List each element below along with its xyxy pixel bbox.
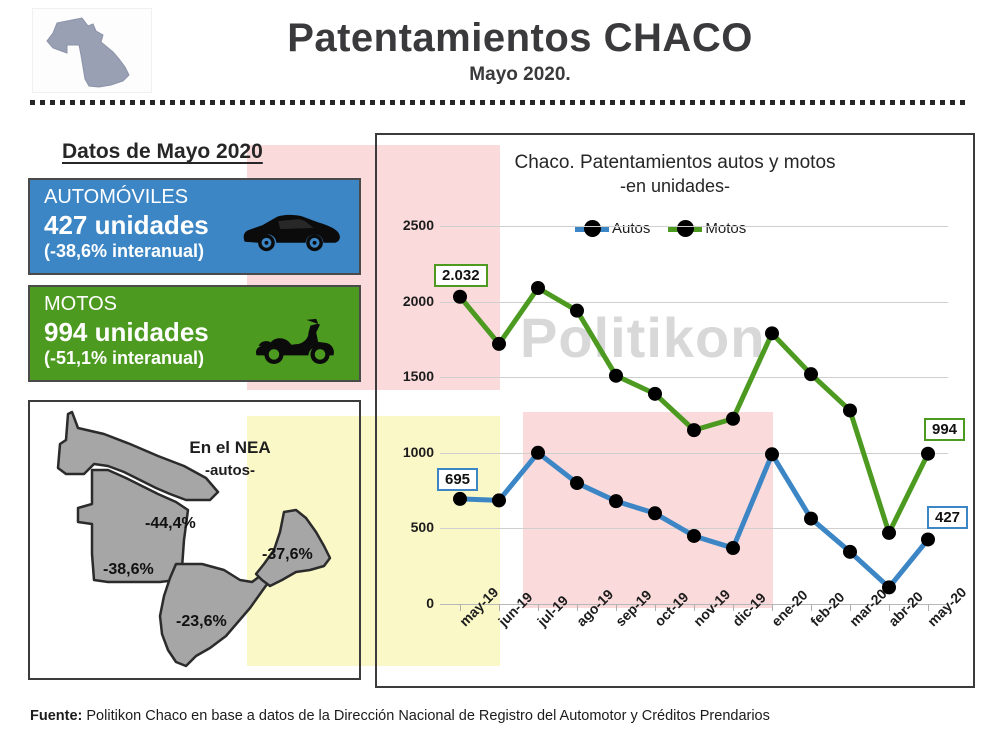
x-tick-dic-19: [733, 604, 734, 611]
card-motos-label: MOTOS: [44, 293, 345, 317]
chaco-province-map-icon: [32, 8, 152, 93]
gridline-1000: [440, 453, 948, 454]
nea-subtitle: -autos-: [150, 462, 310, 479]
legend-label-motos: Motos: [705, 220, 746, 237]
source-label: Fuente:: [30, 708, 82, 724]
source-footnote: Fuente: Politikon Chaco en base a datos …: [30, 708, 980, 724]
x-tick-abr-20: [889, 604, 890, 611]
x-tick-may-20: [928, 604, 929, 611]
gridline-2500: [440, 226, 948, 227]
infographic-root: Patentamientos CHACO Mayo 2020. Datos de…: [0, 0, 1000, 750]
gridline-1500: [440, 377, 948, 378]
map-pct-misiones: -37,6%: [262, 546, 313, 564]
y-tick-label-0: 0: [386, 595, 434, 611]
x-tick-jun-19: [499, 604, 500, 611]
x-tick-oct-19: [655, 604, 656, 611]
map-pct-corrientes: -23,6%: [176, 613, 227, 631]
scooter-icon: [249, 315, 345, 370]
y-tick-label-500: 500: [386, 519, 434, 535]
x-tick-sep-19: [616, 604, 617, 611]
map-pct-chaco: -38,6%: [103, 561, 154, 579]
data-label-autos-427: 427: [927, 506, 968, 529]
chart-legend: Autos Motos: [575, 220, 746, 237]
x-tick-mar-20: [850, 604, 851, 611]
y-tick-label-1000: 1000: [386, 444, 434, 460]
data-label-motos-994: 994: [924, 418, 965, 441]
x-tick-ene-20: [772, 604, 773, 611]
gridline-500: [440, 528, 948, 529]
chart-title-line1: Chaco. Patentamientos autos y motos: [400, 152, 950, 174]
y-tick-label-2500: 2500: [386, 217, 434, 233]
legend-label-autos: Autos: [612, 220, 650, 237]
map-pct-formosa: -44,4%: [145, 515, 196, 533]
card-automoviles-label: AUTOMÓVILES: [44, 186, 345, 210]
source-text: Politikon Chaco en base a datos de la Di…: [82, 708, 770, 724]
data-label-motos-2.032: 2.032: [434, 264, 488, 287]
card-motos: MOTOS 994 unidades (-51,1% interanual): [28, 285, 361, 382]
x-tick-nov-19: [694, 604, 695, 611]
legend-item-autos[interactable]: Autos: [575, 220, 650, 237]
page-subtitle: Mayo 2020.: [180, 64, 860, 86]
y-tick-label-2000: 2000: [386, 293, 434, 309]
chart-title-line2: -en unidades-: [400, 176, 950, 197]
y-tick-label-1500: 1500: [386, 368, 434, 384]
data-label-autos-695: 695: [437, 468, 478, 491]
x-tick-feb-20: [811, 604, 812, 611]
pink-middle-band: [523, 412, 773, 608]
nea-title: En el NEA: [150, 438, 310, 458]
page-title: Patentamientos CHACO: [180, 16, 860, 61]
x-tick-may-19: [460, 604, 461, 611]
car-icon: [237, 208, 345, 259]
x-tick-jul-19: [538, 604, 539, 611]
header-divider: [30, 100, 970, 105]
card-automoviles: AUTOMÓVILES 427 unidades (-38,6% interan…: [28, 178, 361, 275]
watermark: Politikon: [520, 305, 765, 370]
left-section-title: Datos de Mayo 2020: [62, 140, 322, 164]
x-tick-ago-19: [577, 604, 578, 611]
legend-item-motos[interactable]: Motos: [668, 220, 746, 237]
gridline-2000: [440, 302, 948, 303]
